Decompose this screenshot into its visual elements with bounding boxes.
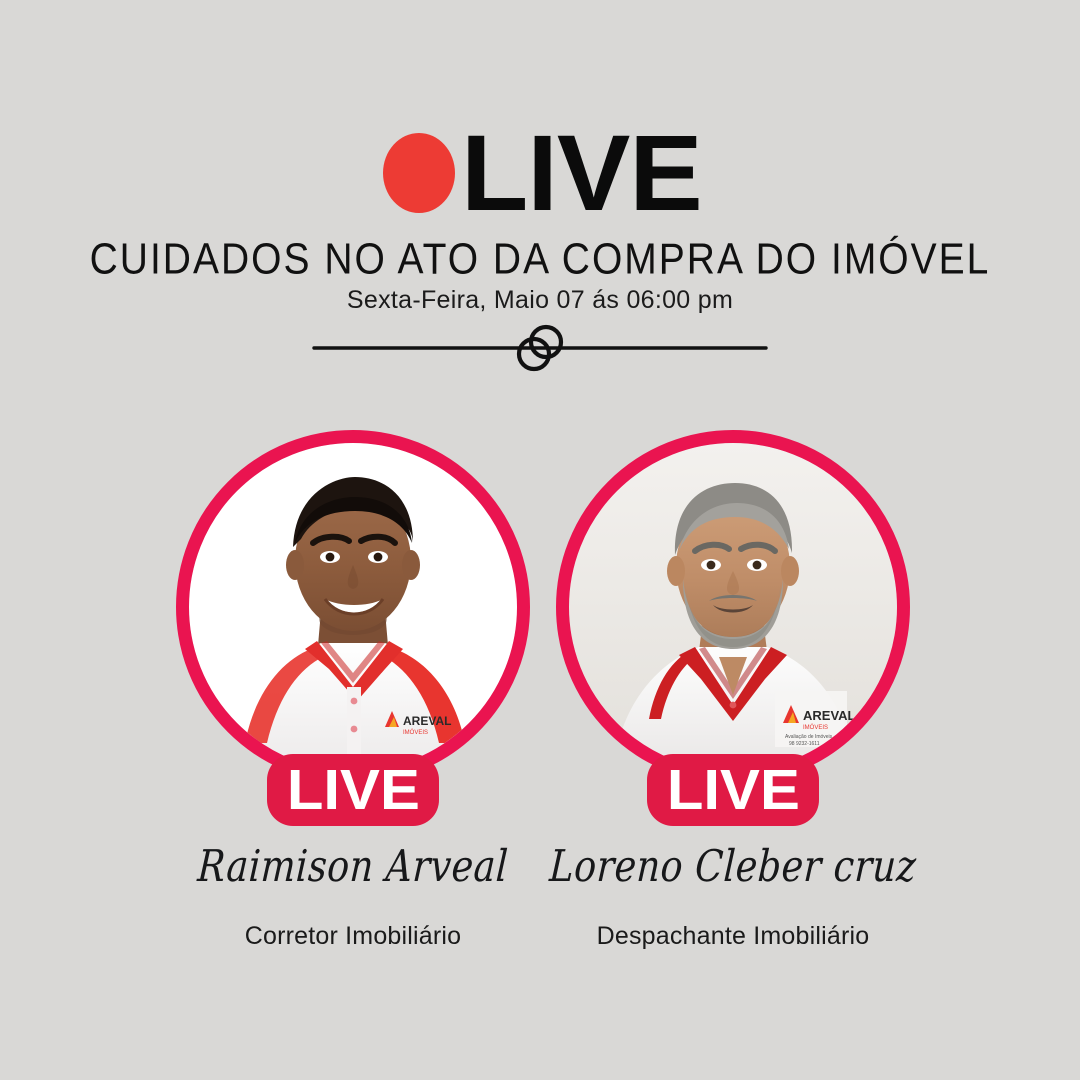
speaker-name-2: Loreno Cleber cruz [542, 841, 923, 892]
speaker-role-2: Despachante Imobiliário [516, 922, 950, 951]
speaker-photo-frame-2: AREVAL IMÓVEIS Avaliação de Imóveis 98 9… [556, 430, 910, 784]
speaker-photo-ring-2 [556, 430, 910, 784]
page-title: CUIDADOS NO ATO DA COMPRA DO IMÓVEL [0, 235, 1080, 284]
speaker-role-1: Corretor Imobiliário [136, 922, 570, 951]
live-badge-2: LIVE [647, 754, 819, 826]
live-announcement-poster: LIVE CUIDADOS NO ATO DA COMPRA DO IMÓVEL… [0, 0, 1080, 1080]
speaker-card-1: AREVAL IMÓVEIS [176, 430, 530, 784]
live-badge-label-2: LIVE [666, 762, 799, 819]
live-wordmark: LIVE [0, 118, 1080, 228]
event-datetime: Sexta-Feira, Maio 07 ás 06:00 pm [0, 286, 1080, 315]
live-badge-1: LIVE [267, 754, 439, 826]
speaker-photo-frame-1: AREVAL IMÓVEIS [176, 430, 530, 784]
speakers-row: AREVAL IMÓVEIS [0, 430, 1080, 990]
interlocking-rings-divider-icon [310, 322, 770, 374]
speaker-name-1: Raimison Arveal [162, 841, 543, 892]
live-wordmark-text: LIVE [461, 127, 702, 220]
speaker-card-2: AREVAL IMÓVEIS Avaliação de Imóveis 98 9… [556, 430, 910, 784]
speaker-photo-ring-1 [176, 430, 530, 784]
live-badge-label-1: LIVE [286, 762, 419, 819]
live-red-dot-icon [383, 133, 455, 213]
